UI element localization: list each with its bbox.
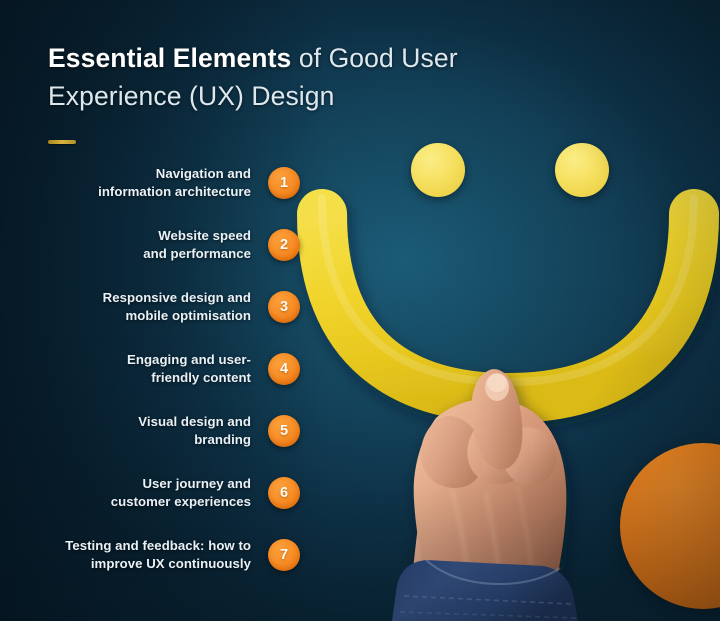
list-item-label-line2: improve UX continuously	[91, 556, 251, 571]
list-item-label-line1: Visual design and	[138, 414, 251, 429]
list-item-label-line1: Testing and feedback: how to	[65, 538, 251, 553]
list-item-number-badge: 4	[268, 353, 300, 385]
list-item[interactable]: Testing and feedback: how to improve UX …	[0, 524, 300, 586]
elements-list: Navigation and information architecture …	[0, 152, 300, 586]
list-item-label-line1: Navigation and	[156, 166, 251, 181]
list-item-number-badge: 3	[268, 291, 300, 323]
list-item-number-badge: 6	[268, 477, 300, 509]
list-item-label-line2: friendly content	[151, 370, 251, 385]
list-item[interactable]: Responsive design and mobile optimisatio…	[0, 276, 300, 338]
list-item-label-line2: and performance	[143, 246, 251, 261]
list-item-label-line1: Website speed	[158, 228, 251, 243]
list-item-label-line2: customer experiences	[111, 494, 251, 509]
list-item-number-badge: 2	[268, 229, 300, 261]
list-item-number-badge: 5	[268, 415, 300, 447]
list-item[interactable]: User journey and customer experiences 6	[0, 462, 300, 524]
list-item[interactable]: Website speed and performance 2	[0, 214, 300, 276]
page-title: Essential Elements of Good User Experien…	[48, 39, 568, 115]
list-item-label: Testing and feedback: how to improve UX …	[19, 537, 251, 572]
list-item-label-line1: Engaging and user-	[127, 352, 251, 367]
list-item[interactable]: Navigation and information architecture …	[0, 152, 300, 214]
list-item-label: Website speed and performance	[19, 227, 251, 262]
list-item-label: User journey and customer experiences	[19, 475, 251, 510]
title-divider-dash	[48, 140, 76, 144]
page-title-line2: Experience (UX) Design	[48, 81, 334, 111]
list-item-label: Responsive design and mobile optimisatio…	[19, 289, 251, 324]
list-item-number-badge: 7	[268, 539, 300, 571]
list-item-label-line1: User journey and	[142, 476, 251, 491]
page-title-rest-line1: of Good User	[291, 43, 457, 73]
page-title-strong: Essential Elements	[48, 43, 291, 73]
list-item-label-line2: information architecture	[98, 184, 251, 199]
infographic-canvas: Essential Elements of Good User Experien…	[0, 0, 720, 621]
list-item-number-badge: 1	[268, 167, 300, 199]
list-item-label: Navigation and information architecture	[19, 165, 251, 200]
list-item[interactable]: Engaging and user- friendly content 4	[0, 338, 300, 400]
list-item-label: Engaging and user- friendly content	[19, 351, 251, 386]
list-item-label-line1: Responsive design and	[103, 290, 251, 305]
list-item-label-line2: mobile optimisation	[125, 308, 251, 323]
list-item[interactable]: Visual design and branding 5	[0, 400, 300, 462]
list-item-label-line2: branding	[194, 432, 251, 447]
list-item-label: Visual design and branding	[19, 413, 251, 448]
